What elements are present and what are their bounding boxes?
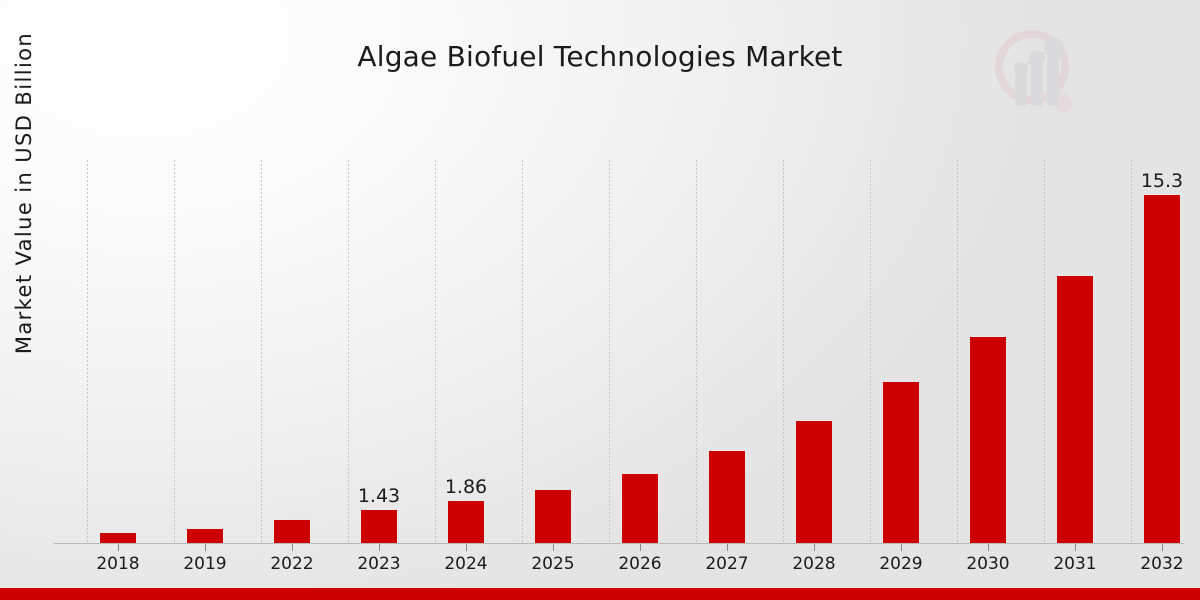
bar-2025[interactable] bbox=[535, 489, 571, 543]
x-axis-line bbox=[54, 543, 1184, 544]
y-axis-title: Market Value in USD Billion bbox=[6, 0, 42, 393]
bar-2019[interactable] bbox=[187, 528, 223, 543]
plot-area: 1.43 1.86 15.3 2018 2019 2022 2023 2024 … bbox=[54, 160, 1184, 544]
gridline bbox=[261, 160, 262, 544]
gridline bbox=[609, 160, 610, 544]
gridline bbox=[870, 160, 871, 544]
x-tick-label-2029: 2029 bbox=[861, 554, 941, 574]
gridline bbox=[696, 160, 697, 544]
x-tick-mark bbox=[379, 544, 380, 551]
gridline bbox=[1044, 160, 1045, 544]
x-tick-mark bbox=[118, 544, 119, 551]
bar-2031[interactable] bbox=[1057, 275, 1093, 543]
gridline bbox=[783, 160, 784, 544]
x-tick-label-2024: 2024 bbox=[426, 554, 506, 574]
footer-accent-band bbox=[0, 588, 1200, 600]
x-tick-label-2022: 2022 bbox=[252, 554, 332, 574]
bar-value-label-2023: 1.43 bbox=[344, 485, 414, 507]
x-tick-mark bbox=[901, 544, 902, 551]
x-tick-label-2019: 2019 bbox=[165, 554, 245, 574]
bar-2030[interactable] bbox=[970, 336, 1006, 543]
bar-2024[interactable] bbox=[448, 500, 484, 543]
x-tick-mark bbox=[292, 544, 293, 551]
x-tick-mark bbox=[727, 544, 728, 551]
gridline bbox=[1131, 160, 1132, 544]
bar-2023[interactable] bbox=[361, 509, 397, 543]
x-tick-label-2023: 2023 bbox=[339, 554, 419, 574]
x-tick-mark bbox=[553, 544, 554, 551]
bar-2032[interactable] bbox=[1144, 194, 1180, 543]
x-tick-label-2025: 2025 bbox=[513, 554, 593, 574]
bar-value-label-2032: 15.3 bbox=[1127, 170, 1197, 192]
x-tick-mark bbox=[205, 544, 206, 551]
bar-2026[interactable] bbox=[622, 473, 658, 543]
chart-figure: Algae Biofuel Technologies Market Market… bbox=[0, 0, 1200, 600]
gridline bbox=[522, 160, 523, 544]
gridline bbox=[957, 160, 958, 544]
x-tick-mark bbox=[1075, 544, 1076, 551]
chart-title: Algae Biofuel Technologies Market bbox=[0, 40, 1200, 73]
gridline bbox=[87, 160, 88, 544]
bar-2028[interactable] bbox=[796, 420, 832, 543]
x-tick-label-2026: 2026 bbox=[600, 554, 680, 574]
bar-2022[interactable] bbox=[274, 519, 310, 543]
gridline bbox=[174, 160, 175, 544]
bar-2018[interactable] bbox=[100, 532, 136, 543]
x-tick-label-2032: 2032 bbox=[1122, 554, 1200, 574]
x-tick-mark bbox=[814, 544, 815, 551]
bar-2027[interactable] bbox=[709, 450, 745, 543]
x-tick-label-2027: 2027 bbox=[687, 554, 767, 574]
x-tick-label-2031: 2031 bbox=[1035, 554, 1115, 574]
bar-value-label-2024: 1.86 bbox=[431, 476, 501, 498]
x-tick-mark bbox=[1162, 544, 1163, 551]
x-tick-label-2030: 2030 bbox=[948, 554, 1028, 574]
x-tick-mark bbox=[988, 544, 989, 551]
bar-2029[interactable] bbox=[883, 381, 919, 543]
x-tick-label-2028: 2028 bbox=[774, 554, 854, 574]
x-tick-label-2018: 2018 bbox=[78, 554, 158, 574]
x-tick-mark bbox=[640, 544, 641, 551]
x-tick-mark bbox=[466, 544, 467, 551]
